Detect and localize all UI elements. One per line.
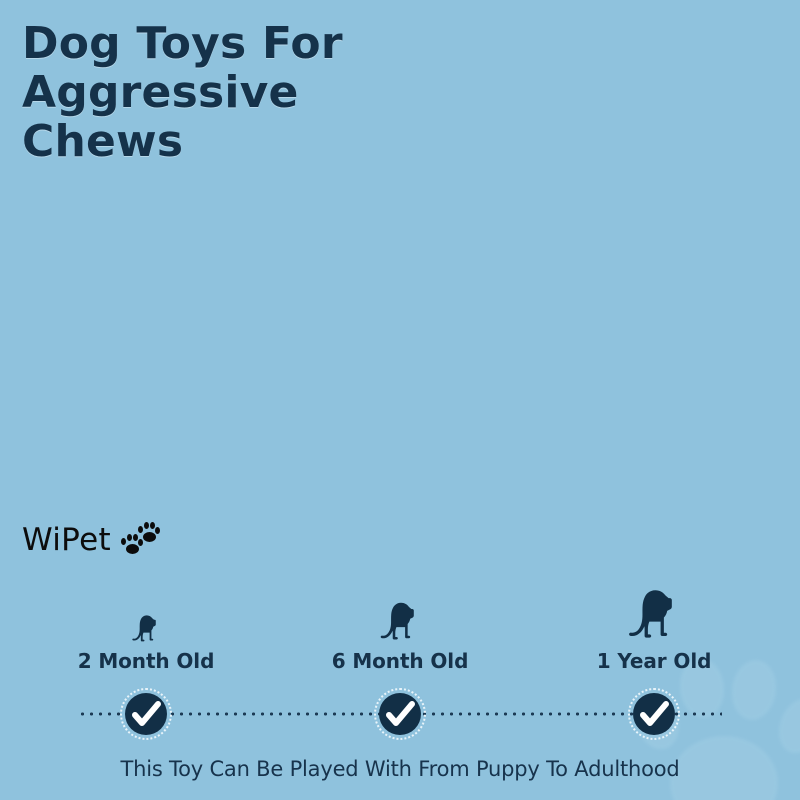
toy-eye — [451, 478, 461, 488]
age-stage-2-month: 2 Month Old — [26, 612, 266, 673]
person-hand — [218, 240, 276, 282]
headline-line-3: Chews — [22, 118, 343, 167]
cardigan-button — [500, 148, 507, 155]
paw-print-icon — [121, 523, 165, 557]
dog-leg — [600, 446, 750, 488]
laptop-keyboard — [14, 408, 157, 436]
dog-coat-spot — [470, 316, 504, 342]
dog-eye — [345, 380, 371, 402]
cardigan-button — [502, 208, 509, 215]
page-title: Dog Toys For Aggressive Chews — [22, 20, 343, 166]
dog-coat-spot — [680, 348, 724, 386]
headline-line-2: Aggressive — [22, 69, 343, 118]
age-stage-label: 1 Year Old — [534, 649, 774, 673]
age-stage-label: 2 Month Old — [26, 649, 266, 673]
age-stage-label: 6 Month Old — [280, 649, 520, 673]
product-image-canvas: Dog Toys For Aggressive Chews WiPet — [0, 0, 800, 800]
age-stage-1-year: 1 Year Old — [534, 584, 774, 673]
dog-coat-spot — [540, 330, 626, 402]
dog-eye — [276, 398, 302, 420]
headline-line-1: Dog Toys For — [22, 20, 343, 69]
age-stage-6-month: 6 Month Old — [280, 598, 520, 673]
dog-silhouette-small — [129, 612, 163, 646]
brand-logo: WiPet — [22, 522, 165, 558]
brand-name: WiPet — [22, 522, 111, 558]
dog-silhouette-large — [623, 584, 685, 646]
tagline: This Toy Can Be Played With From Puppy T… — [0, 757, 800, 781]
dog-silhouette-medium — [376, 598, 424, 646]
